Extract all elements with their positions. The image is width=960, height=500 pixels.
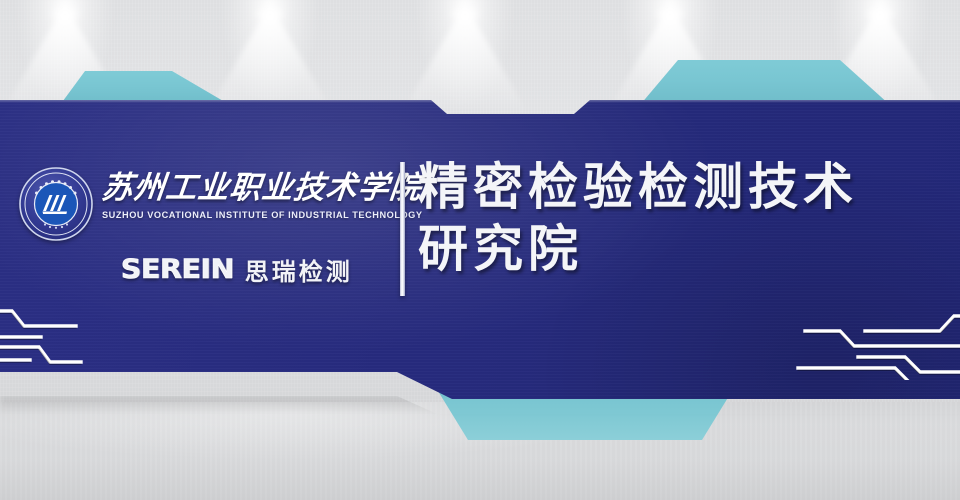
serein-name-cn: 思瑞检测 [245,252,353,287]
vertical-divider [400,162,405,296]
university-crest-icon [18,166,94,242]
institution-logo-block: 苏州工业职业技术学院 SUZHOU VOCATIONAL INSTITUTE O… [18,158,390,298]
university-name-en: SUZHOU VOCATIONAL INSTITUTE OF INDUSTRIA… [102,210,402,220]
serein-wordmark: SEREIN [121,254,234,285]
partner-logo-row: SEREIN 思瑞检测 [124,252,394,286]
page-title-line-1: 精密检验检测技术 [418,156,946,218]
page-title-line-2: 研究院 [418,218,946,280]
page-title: 精密检验检测技术 研究院 [418,156,946,280]
university-name-cn: 苏州工业职业技术学院 [100,162,393,207]
